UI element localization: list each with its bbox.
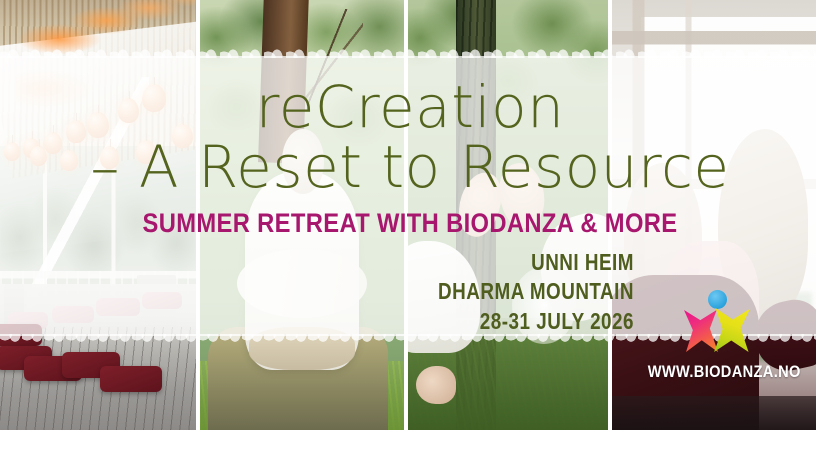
floor-cushion: [100, 366, 162, 392]
website-url[interactable]: WWW.BIODANZA.NO: [648, 362, 792, 382]
logo-circle-icon: [708, 290, 727, 309]
logo-figure-right-icon: [714, 308, 750, 352]
torn-edge-top: [0, 44, 820, 58]
poster: reCreation – A Reset to Resource SUMMER …: [0, 0, 820, 462]
biodanza-logo: [680, 288, 752, 354]
logo-figure-left-icon: [684, 310, 718, 352]
room-floor-shadow: [612, 396, 816, 430]
bare-foot: [416, 366, 456, 405]
